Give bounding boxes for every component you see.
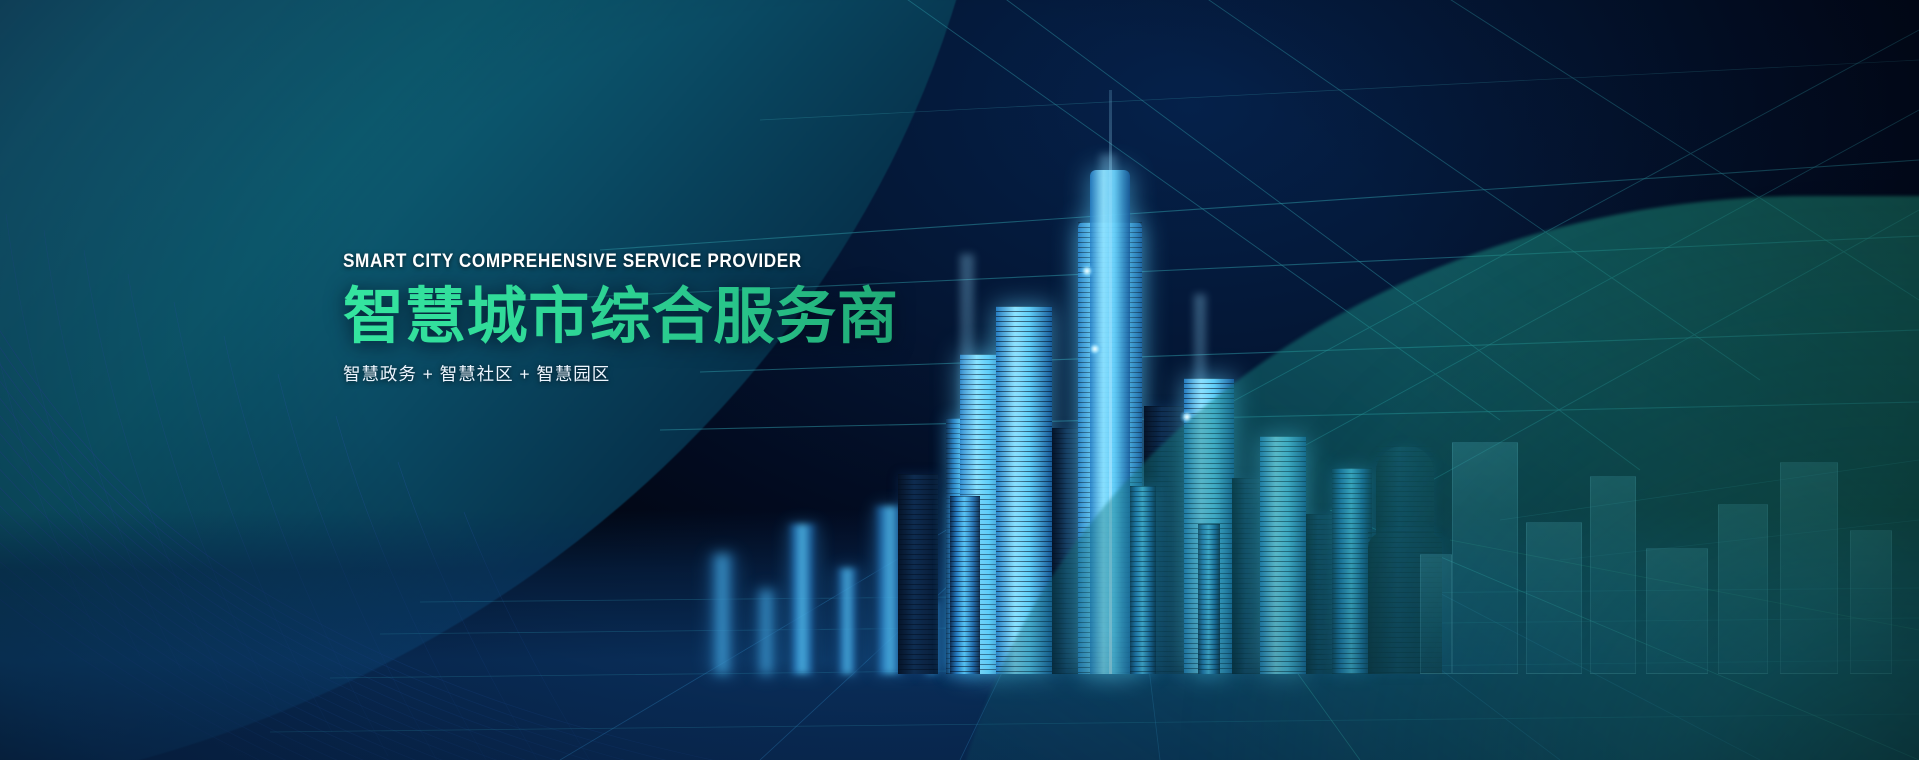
foreground-block xyxy=(710,554,736,674)
foreground-block xyxy=(756,590,778,674)
right-green-glow xyxy=(1199,200,1919,760)
foreground-block xyxy=(836,568,860,674)
hero-banner: SMART CITY COMPREHENSIVE SERVICE PROVIDE… xyxy=(0,0,1919,760)
building xyxy=(898,474,938,674)
hero-copy-block: SMART CITY COMPREHENSIVE SERVICE PROVIDE… xyxy=(343,250,1163,386)
hero-subcopy: 智慧政务 + 智慧社区 + 智慧园区 xyxy=(343,361,1163,386)
hero-eyebrow: SMART CITY COMPREHENSIVE SERVICE PROVIDE… xyxy=(343,250,1065,273)
foreground-block xyxy=(788,524,818,674)
hero-headline: 智慧城市综合服务商 xyxy=(343,284,1163,349)
